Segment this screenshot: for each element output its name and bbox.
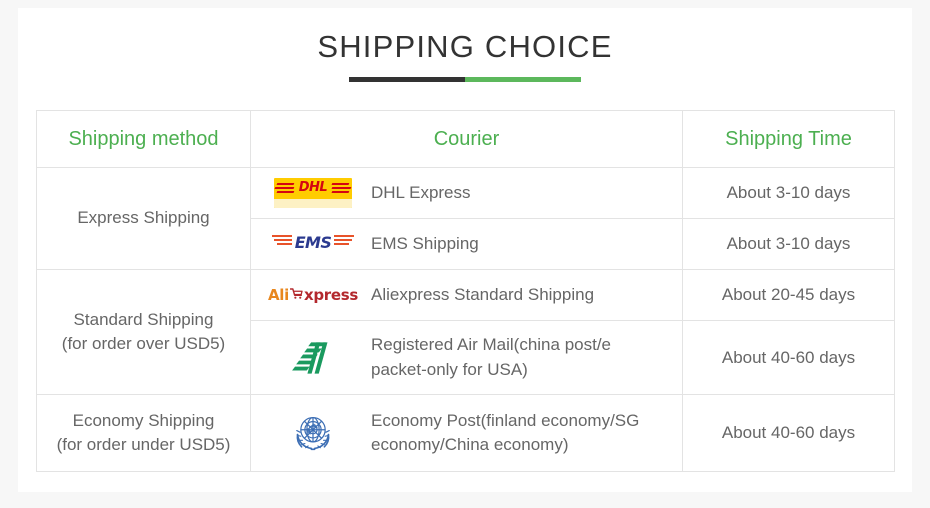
time-cell: About 20-45 days <box>683 270 895 321</box>
time-cell: About 40-60 days <box>683 395 895 472</box>
courier-label: EMS Shipping <box>371 232 479 257</box>
time-cell: About 3-10 days <box>683 168 895 219</box>
method-label: Standard Shipping <box>37 308 250 333</box>
dhl-logo: DHL EXPRESS <box>269 178 357 208</box>
title-underline-dark-segment <box>349 77 465 82</box>
method-cell-economy: Economy Shipping (for order under USD5) <box>37 395 251 472</box>
method-cell-express: Express Shipping <box>37 168 251 270</box>
title-block: SHIPPING CHOICE <box>18 8 912 82</box>
courier-label: Economy Post(finland economy/SG economy/… <box>371 409 668 458</box>
ems-logo: EMS <box>269 230 357 258</box>
courier-cell-dhl: DHL EXPRESS DHL Express <box>251 168 683 219</box>
time-cell: About 40-60 days <box>683 321 895 395</box>
courier-cell-economy-post: Economy Post(finland economy/SG economy/… <box>251 395 683 472</box>
header-shipping-time: Shipping Time <box>683 111 895 168</box>
method-cell-standard: Standard Shipping (for order over USD5) <box>37 270 251 395</box>
courier-cell-aliexpress: Ali xpress <box>251 270 683 321</box>
table-row: Express Shipping DHL EXPRESS DHL Expr <box>37 168 895 219</box>
title-underline <box>349 77 581 82</box>
courier-cell-ems: EMS EMS Shipping <box>251 219 683 270</box>
courier-label: DHL Express <box>371 181 471 206</box>
header-shipping-method: Shipping method <box>37 111 251 168</box>
table-header-row: Shipping method Courier Shipping Time <box>37 111 895 168</box>
china-post-logo <box>269 336 357 380</box>
courier-cell-china-post: Registered Air Mail(china post/e packet-… <box>251 321 683 395</box>
header-courier: Courier <box>251 111 683 168</box>
page-title: SHIPPING CHOICE <box>18 30 912 64</box>
aliexpress-wordmark-xpress: xpress <box>304 286 358 304</box>
method-label: Express Shipping <box>77 208 209 227</box>
method-note: (for order under USD5) <box>37 433 250 458</box>
method-label: Economy Shipping <box>37 409 250 434</box>
shopping-cart-icon <box>290 286 303 304</box>
dhl-wordmark: DHL <box>274 180 352 195</box>
shipping-options-table: Shipping method Courier Shipping Time Ex… <box>36 110 895 472</box>
ems-wordmark: EMS <box>272 233 354 252</box>
courier-label: Registered Air Mail(china post/e packet-… <box>371 333 668 382</box>
title-underline-green-segment <box>465 77 581 82</box>
courier-label: Aliexpress Standard Shipping <box>371 283 594 308</box>
un-economy-post-logo <box>269 407 357 459</box>
shipping-info-card: SHIPPING CHOICE Shipping method Courier … <box>18 8 912 492</box>
aliexpress-wordmark-ali: Ali <box>268 286 289 304</box>
table-row: Economy Shipping (for order under USD5) <box>37 395 895 472</box>
aliexpress-logo: Ali xpress <box>269 286 357 304</box>
time-cell: About 3-10 days <box>683 219 895 270</box>
method-note: (for order over USD5) <box>37 332 250 357</box>
table-row: Standard Shipping (for order over USD5) … <box>37 270 895 321</box>
